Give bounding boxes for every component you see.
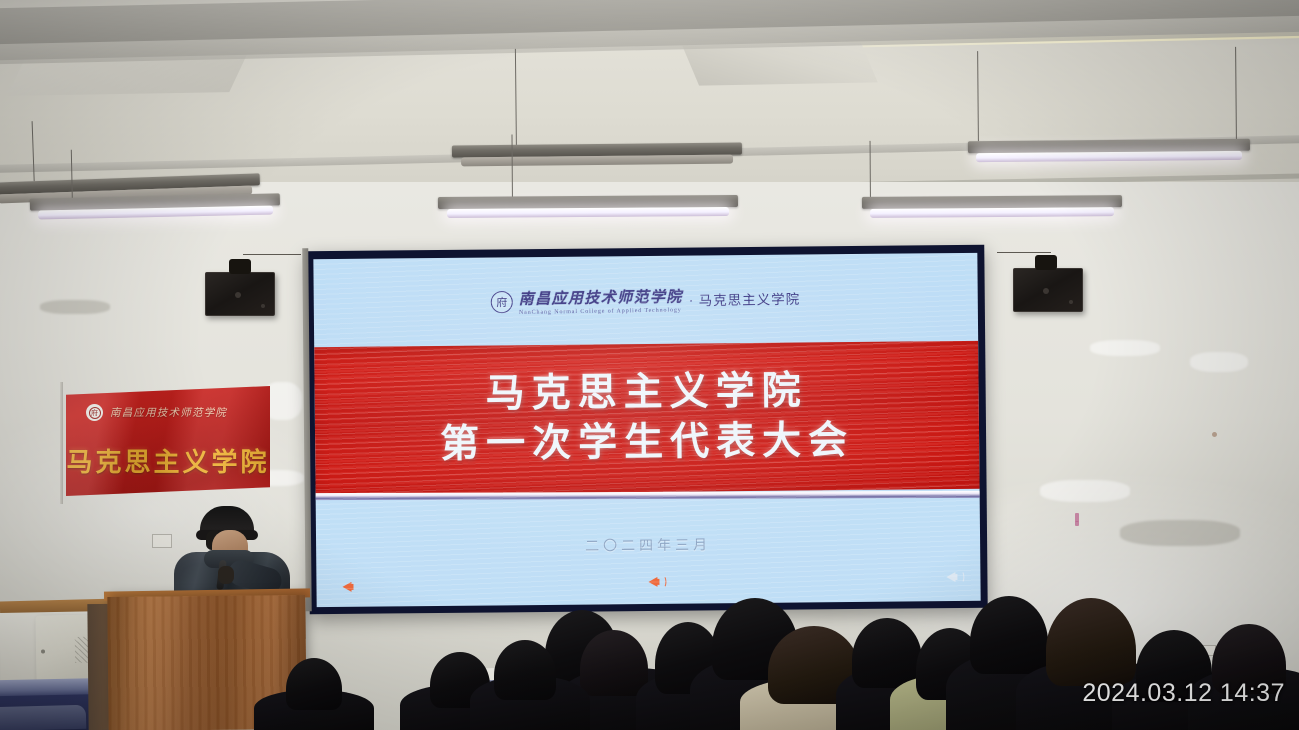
flag-school-seal: 府 xyxy=(86,404,103,421)
flag-title: 马克思主义学院 xyxy=(66,442,270,479)
audience-head xyxy=(852,618,922,688)
slide-title-line-2: 第一次学生代表大会 xyxy=(440,416,854,470)
wall-scuff xyxy=(1040,480,1130,502)
wall-speaker-right xyxy=(1013,268,1083,312)
slide-title-line-1: 马克思主义学院 xyxy=(485,367,807,420)
wall-scuff xyxy=(40,300,110,314)
audience-head xyxy=(286,658,342,710)
photo-timestamp: 2024.03.12 14:37 xyxy=(1082,679,1285,708)
audience-head xyxy=(1046,598,1136,686)
audience-head xyxy=(580,630,648,696)
ceiling-light-3 xyxy=(438,195,738,218)
wall-socket xyxy=(152,534,172,548)
slide-school-name-cn: 南昌应用技术师范学院 xyxy=(519,285,683,308)
flag-rod xyxy=(60,382,63,504)
wall-scuff xyxy=(1090,340,1160,356)
slide-title-band: 马克思主义学院 第一次学生代表大会 xyxy=(314,341,979,495)
school-seal-icon: 府 xyxy=(491,291,513,313)
presentation-slide: 府 南昌应用技术师范学院 NanChang Normal College of … xyxy=(313,253,980,607)
flag-seal-glyph: 府 xyxy=(89,407,101,419)
wall-speaker-left xyxy=(205,272,275,316)
classroom-photo: 府 南昌应用技术师范学院 马克思主义学院 府 南昌应用技术师范学院 NanCha… xyxy=(0,0,1299,730)
projection-screen: 府 南昌应用技术师范学院 NanChang Normal College of … xyxy=(306,245,987,614)
ceiling-light-6 xyxy=(968,139,1250,162)
audience-head xyxy=(970,596,1048,674)
slide-header: 府 南昌应用技术师范学院 NanChang Normal College of … xyxy=(313,253,978,347)
wall-scuff xyxy=(1190,352,1248,372)
slide-date: 二〇二四年三月 xyxy=(585,534,711,555)
wall-mark xyxy=(1212,432,1217,437)
ceiling-light-4 xyxy=(452,142,742,166)
wall-scuff xyxy=(1120,520,1240,546)
ceiling-recess-right xyxy=(682,42,878,85)
wall-banner-flag: 府 南昌应用技术师范学院 马克思主义学院 xyxy=(66,386,270,496)
ceiling-light-5 xyxy=(862,195,1122,218)
wall-mark xyxy=(1075,521,1079,526)
slide-school-name-en: NanChang Normal College of Applied Techn… xyxy=(519,307,683,315)
flag-school-name: 南昌应用技术师范学院 xyxy=(110,405,227,420)
slide-department-name: · 马克思主义学院 xyxy=(689,288,801,310)
